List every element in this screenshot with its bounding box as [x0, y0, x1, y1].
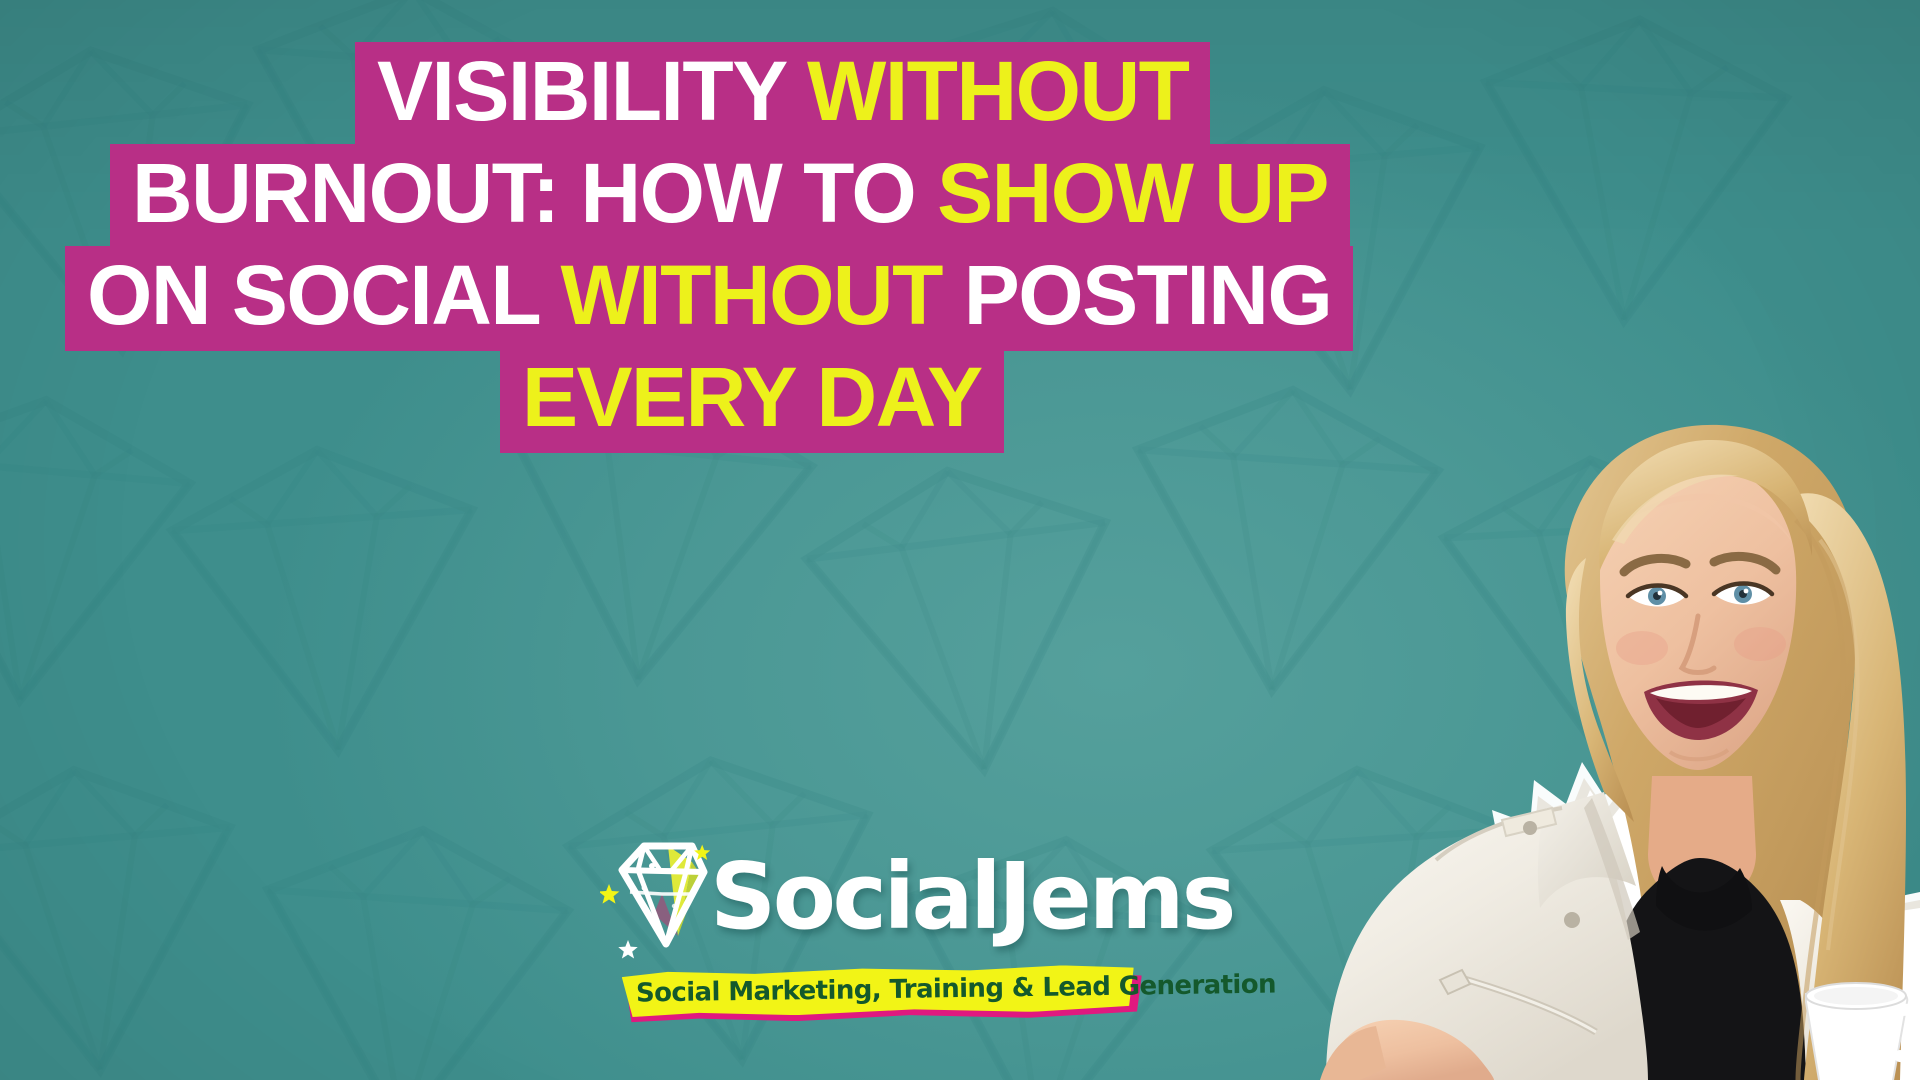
title-line-4: EVERY DAY	[500, 348, 1920, 450]
title-seg-burnout-howto: BURNOUT: HOW TO	[132, 146, 937, 240]
poster-canvas: VISIBILITY WITHOUT BURNOUT: HOW TO SHOW …	[0, 0, 1920, 1080]
brand-word-social: Social	[710, 843, 998, 950]
brand-wordmark: SocialJems	[710, 838, 1233, 956]
title-seg-on-social: ON SOCIAL	[87, 248, 561, 342]
presenter-photo	[1200, 380, 1920, 1080]
title-line-3: ON SOCIAL WITHOUT POSTING	[65, 246, 1920, 348]
diamond-gem-icon	[600, 832, 724, 964]
title-line-1: VISIBILITY WITHOUT	[355, 42, 1920, 144]
brand-logo[interactable]: SocialJems Social Marketing, Training & …	[600, 838, 1160, 1048]
brand-tagline-banner: Social Marketing, Training & Lead Genera…	[622, 966, 1142, 1022]
title-seg-without-1: WITHOUT	[807, 44, 1188, 138]
page-title: VISIBILITY WITHOUT BURNOUT: HOW TO SHOW …	[0, 42, 1920, 450]
brand-word-jems: Jems	[998, 843, 1233, 950]
title-seg-without-2: WITHOUT	[561, 248, 964, 342]
title-seg-every-day: EVERY DAY	[522, 350, 982, 444]
title-seg-posting: POSTING	[964, 248, 1332, 342]
title-seg-visibility: VISIBILITY	[377, 44, 807, 138]
title-seg-show-up: SHOW UP	[937, 146, 1328, 240]
title-line-2: BURNOUT: HOW TO SHOW UP	[110, 144, 1920, 246]
